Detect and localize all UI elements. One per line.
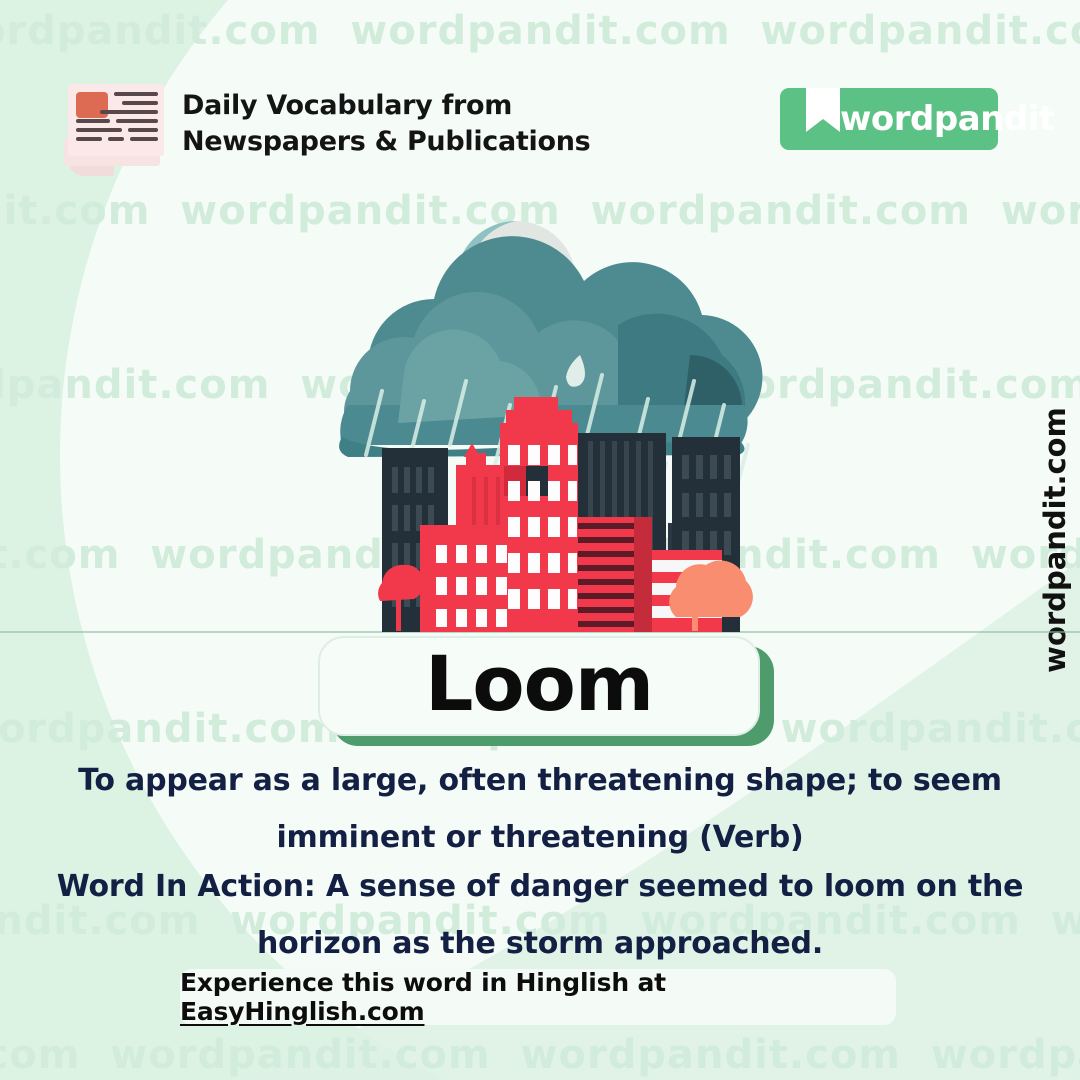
word-card: Loom [318,636,774,746]
bookmark-icon [802,88,844,136]
footer-text: Experience this word in Hinglish at Easy… [180,968,896,1026]
vocabulary-word: Loom [425,646,653,722]
easyhinglish-link[interactable]: EasyHinglish.com [180,997,424,1026]
word-in-action-example: Word In Action: A sense of danger seemed… [22,858,1058,972]
header-title-line1: Daily Vocabulary from [182,90,512,121]
vocabulary-card: wordpandit.com wordpandit.com wordpandit… [0,0,1080,1080]
header-title-line2: Newspapers & Publications [182,124,590,160]
wordpandit-logo[interactable]: wordpandit [780,88,998,150]
footer-banner[interactable]: Experience this word in Hinglish at Easy… [180,969,896,1025]
word-definition: To appear as a large, often threatening … [40,752,1040,866]
header: Daily Vocabulary from Newspapers & Publi… [0,0,1080,185]
word-card-body: Loom [318,636,760,736]
logo-text: wordpandit [840,99,1055,139]
newspaper-icon [56,76,172,180]
page-title: Daily Vocabulary from Newspapers & Publi… [182,88,590,160]
storm-over-city-illustration [0,205,1080,645]
footer-prefix: Experience this word in Hinglish at [180,968,666,997]
